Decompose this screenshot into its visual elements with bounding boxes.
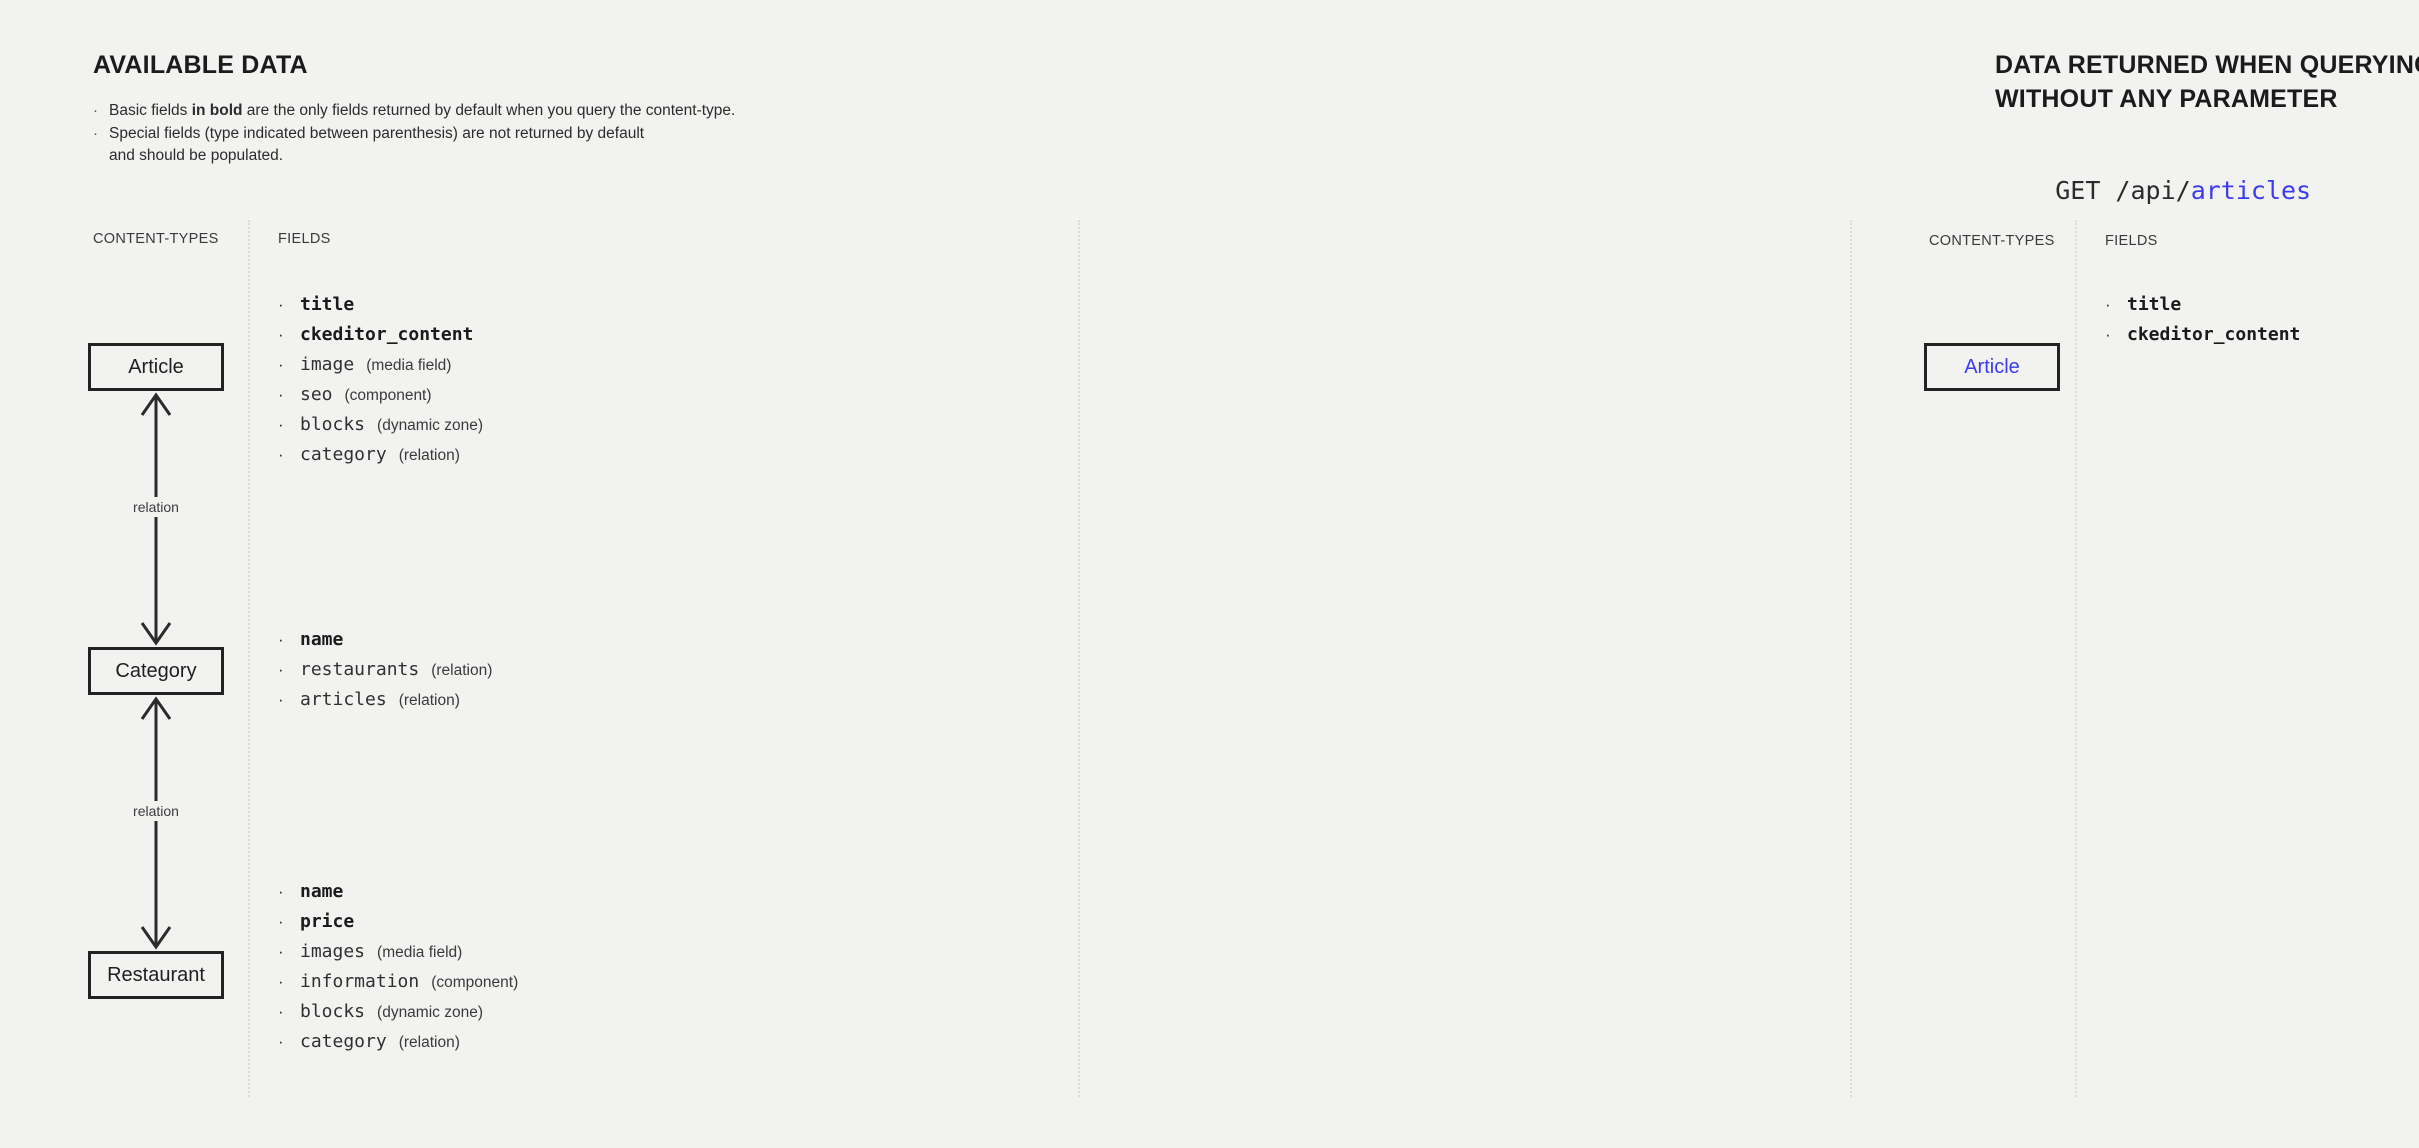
field-row: ·name — [278, 877, 518, 907]
panel-query-populate-all: DATA RETURNED WHEN QUERYING ARTICLES AND… — [1850, 0, 2419, 1148]
field-row: ·restaurants(relation) — [278, 655, 492, 685]
intro-bullet-row: · Special fields (type indicated between… — [93, 123, 833, 146]
field-row: ·name — [278, 625, 492, 655]
bullet-icon: · — [278, 907, 300, 937]
field-row: ·images(media field) — [278, 937, 518, 967]
bullet-icon: · — [278, 655, 300, 685]
bullet-icon: · — [278, 1027, 300, 1057]
intro-bold: in bold — [192, 102, 243, 119]
bullet-icon: · — [278, 380, 300, 410]
field-list-restaurant: ·name ·price ·images(media field) ·infor… — [278, 877, 518, 1057]
field-row: ·blocks(dynamic zone) — [278, 997, 518, 1027]
bullet-icon: · — [278, 685, 300, 715]
bullet-icon: · — [278, 625, 300, 655]
field-row: ·price — [278, 907, 518, 937]
intro-suffix: are the only fields returned by default … — [243, 102, 736, 119]
double-arrow-icon — [96, 695, 216, 951]
field-row: ·image(media field) — [278, 350, 483, 380]
intro-bullet-row: · Basic fields in bold are the only fiel… — [93, 100, 833, 123]
field-row: ·category(relation) — [278, 1027, 518, 1057]
bullet-icon: · — [278, 320, 300, 350]
bullet-icon: · — [278, 350, 300, 380]
bullet-icon: · — [278, 937, 300, 967]
entity-box-category[interactable]: Category — [88, 647, 224, 695]
inner-divider — [248, 220, 250, 1097]
field-row: ·blocks(dynamic zone) — [278, 410, 483, 440]
relation-label: relation — [96, 497, 216, 517]
field-row: ·ckeditor_content — [278, 320, 483, 350]
bullet-icon: · — [278, 967, 300, 997]
panel-query-no-parameter: DATA RETURNED WHEN QUERYING ARTICLES WIT… — [1078, 0, 1850, 1148]
bullet-icon: · — [278, 410, 300, 440]
entity-box-restaurant[interactable]: Restaurant — [88, 951, 224, 999]
field-row: ·seo(component) — [278, 380, 483, 410]
double-arrow-icon — [96, 391, 216, 647]
field-row: ·title — [278, 290, 483, 320]
bullet-icon: · — [93, 100, 109, 123]
field-list-category: ·name ·restaurants(relation) ·articles(r… — [278, 625, 492, 715]
field-row: ·information(component) — [278, 967, 518, 997]
relation-arrow-article-category: relation — [96, 391, 216, 647]
column-label-fields: FIELDS — [278, 231, 331, 247]
panel-title-text: AVAILABLE DATA — [93, 51, 308, 79]
entity-box-article[interactable]: Article — [88, 343, 224, 391]
field-row: ·articles(relation) — [278, 685, 492, 715]
relation-label: relation — [96, 801, 216, 821]
intro-notes: · Basic fields in bold are the only fiel… — [93, 100, 833, 168]
panel-available-data: AVAILABLE DATA · Basic fields in bold ar… — [0, 0, 1078, 1148]
field-list-article: ·title ·ckeditor_content ·image(media fi… — [278, 290, 483, 470]
relation-arrow-category-restaurant: relation — [96, 695, 216, 951]
bullet-icon: · — [278, 877, 300, 907]
intro-prefix: Basic fields — [109, 102, 192, 119]
bullet-icon: · — [278, 997, 300, 1027]
intro-continuation: and should be populated. — [109, 145, 833, 168]
bullet-icon: · — [93, 123, 109, 146]
bullet-icon: · — [278, 290, 300, 320]
field-row: ·category(relation) — [278, 440, 483, 470]
intro-prefix: Special fields (type indicated between p… — [109, 123, 833, 146]
column-label-content-types: CONTENT-TYPES — [93, 231, 219, 247]
panel-title-available-data: AVAILABLE DATA — [93, 48, 308, 82]
bullet-icon: · — [278, 440, 300, 470]
